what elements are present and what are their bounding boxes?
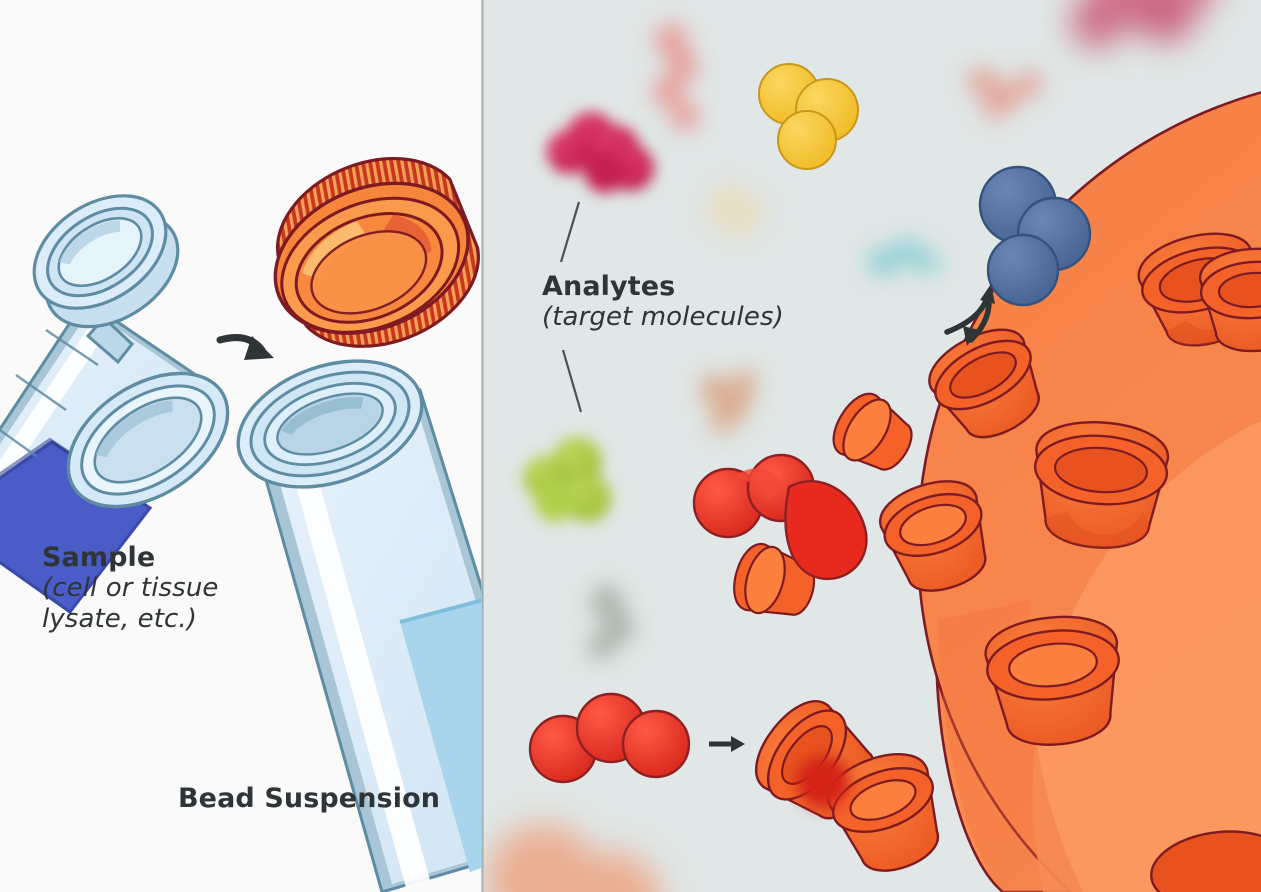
bead-suspension-label: Bead Suspension: [178, 783, 440, 814]
analyte-peach-bg-bottom: [487, 824, 661, 892]
analytes-label: Analytes (target molecules): [542, 272, 784, 333]
analyte-pink-bg: [653, 24, 699, 130]
sample-label-sub-1: (cell or tissue: [42, 573, 219, 604]
analyte-yellow: [759, 64, 858, 169]
panel-divider: [481, 0, 484, 892]
analyte-crimson: [547, 112, 654, 193]
analyte-tan-bg-mid: [700, 370, 757, 433]
sample-label: Sample (cell or tissue lysate, etc.): [42, 543, 219, 636]
figure-canvas: Sample (cell or tissue lysate, etc.) Bea…: [0, 0, 1261, 892]
pour-arrow: [220, 336, 274, 360]
analyte-rose-bg: [1071, 0, 1219, 48]
orange-screw-cap: [244, 134, 484, 377]
receptor-edge-nub-1: [824, 386, 923, 483]
left-panel-artwork: [0, 0, 484, 892]
analyte-grey-bg: [588, 586, 634, 659]
left-panel: [0, 0, 484, 892]
analyte-teal-bg: [868, 238, 939, 277]
analyte-green: [523, 437, 611, 522]
analyte-red-free: [530, 694, 689, 782]
analytes-label-title: Analytes: [542, 272, 784, 302]
approach-arrow: [709, 736, 745, 752]
analytes-label-sub: (target molecules): [542, 302, 784, 333]
sample-label-sub-2: lysate, etc.): [42, 604, 219, 635]
analyte-cream-bg: [703, 183, 765, 239]
sample-label-title: Sample: [42, 543, 219, 573]
right-panel-artwork: [483, 0, 1261, 892]
analyte-tan-bg-top: [968, 67, 1042, 120]
right-panel: [483, 0, 1261, 892]
analyte-red-bg-dot: [797, 756, 849, 808]
